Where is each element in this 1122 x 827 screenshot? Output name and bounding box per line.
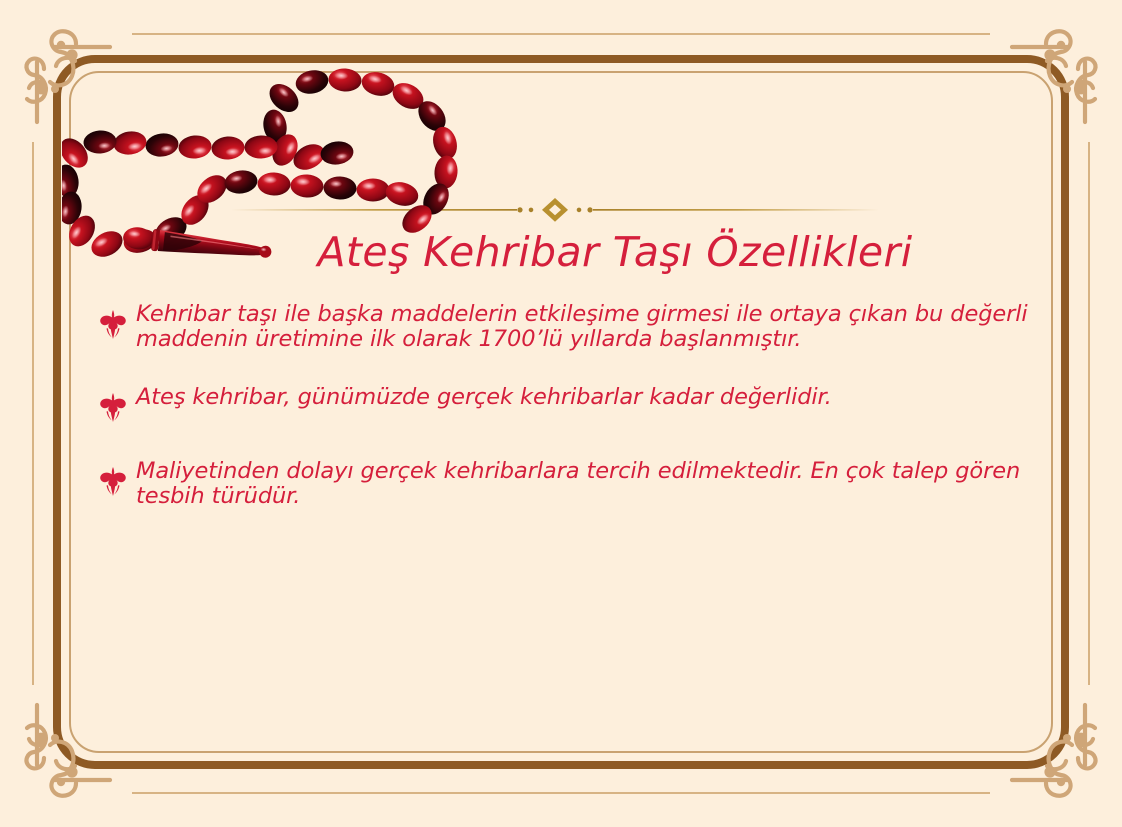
corner-mask-br-v	[1072, 685, 1102, 813]
page-title: Ateş Kehribar Taşı Özellikleri	[0, 228, 1122, 276]
corner-flourish-top-left-icon	[14, 14, 144, 144]
list-item-text: Kehribar taşı ile başka maddelerin etkil…	[136, 302, 1046, 352]
features-list: Kehribar taşı ile başka maddelerin etkil…	[98, 302, 1046, 537]
corner-mask-bl-h	[14, 777, 132, 807]
corner-mask-tr-h	[990, 20, 1108, 50]
list-item: Kehribar taşı ile başka maddelerin etkil…	[98, 302, 1046, 352]
fleur-de-lis-bullet-icon	[98, 309, 128, 340]
diamond-divider-ornament-icon	[231, 196, 879, 224]
list-item: Maliyetinden dolayı gerçek kehribarlara …	[98, 459, 1046, 509]
list-item-text: Maliyetinden dolayı gerçek kehribarlara …	[136, 459, 1046, 509]
corner-flourish-bottom-right-icon	[978, 683, 1108, 813]
corner-mask-tl-v	[20, 14, 50, 142]
corner-mask-tl-h	[14, 20, 132, 50]
corner-mask-tr-v	[1072, 14, 1102, 142]
fleur-de-lis-bullet-icon	[98, 392, 128, 423]
corner-mask-bl-v	[20, 685, 50, 813]
corner-mask-br-h	[990, 777, 1108, 807]
list-item: Ateş kehribar, günümüzde gerçek kehribar…	[98, 385, 1046, 423]
fleur-de-lis-bullet-icon	[98, 466, 128, 497]
corner-flourish-top-right-icon	[978, 14, 1108, 144]
corner-flourish-bottom-left-icon	[14, 683, 144, 813]
infographic-card: Ateş Kehribar Taşı Özellikleri Kehribar …	[0, 0, 1122, 827]
list-item-text: Ateş kehribar, günümüzde gerçek kehribar…	[136, 385, 1046, 410]
